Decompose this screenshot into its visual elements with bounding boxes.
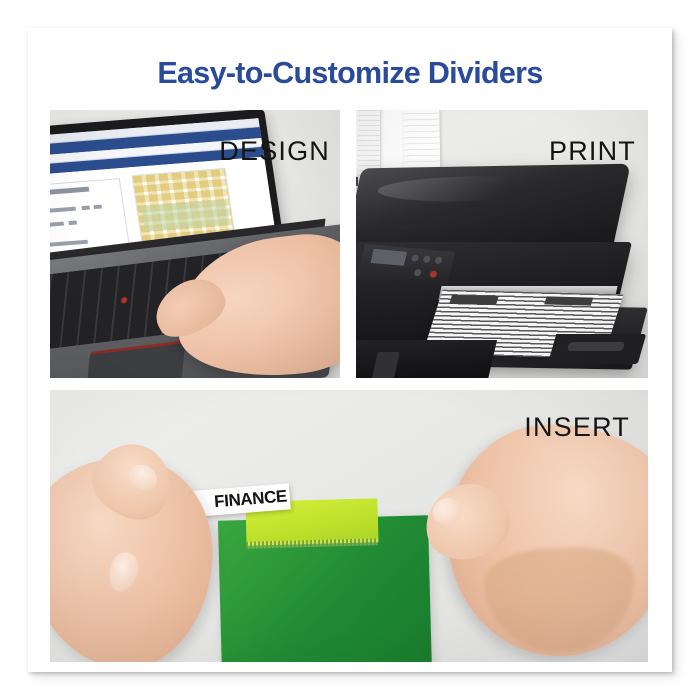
panel-label-insert: INSERT xyxy=(524,412,630,443)
left-fingernail xyxy=(104,549,142,595)
printer-lcd-display xyxy=(370,249,407,266)
form-field-row xyxy=(50,222,64,228)
page-title: Easy-to-Customize Dividers xyxy=(28,56,672,91)
panel-label-design: DESIGN xyxy=(219,136,330,167)
panel-label-print: PRINT xyxy=(549,136,636,167)
form-field-row xyxy=(50,207,76,214)
form-field-row xyxy=(82,205,91,210)
printer-button xyxy=(411,254,419,262)
panel-insert: FINANCE INSERT xyxy=(50,390,648,662)
page-root: Easy-to-Customize Dividers xyxy=(0,0,700,700)
form-field-row xyxy=(50,240,88,247)
form-field-row xyxy=(93,205,102,210)
label-strip-text: FINANCE xyxy=(213,487,287,513)
printer-power-button xyxy=(429,270,437,278)
panel-design: DESIGN xyxy=(50,110,340,378)
app-form-heading xyxy=(50,187,89,196)
printer-button xyxy=(423,255,431,263)
printer-button xyxy=(413,269,421,277)
panel-print: PRINT xyxy=(356,110,648,378)
product-image-card: Easy-to-Customize Dividers xyxy=(28,28,672,672)
printer-tray-grip xyxy=(567,342,626,351)
printer-button xyxy=(434,256,442,264)
right-fingers-behind-divider xyxy=(483,544,638,656)
form-field-row xyxy=(68,221,77,226)
laptop-trackpad xyxy=(86,340,186,378)
